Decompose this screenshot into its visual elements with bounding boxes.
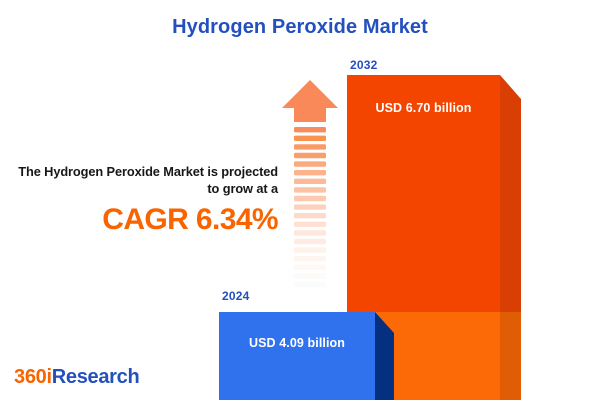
page-title: Hydrogen Peroxide Market [0,16,600,39]
cagr-value-text: CAGR 6.34% [14,205,278,235]
bar-2032-side-lower [500,312,521,400]
cagr-statement-text: The Hydrogen Peroxide Market is projecte… [14,164,278,198]
bar-2024-side [375,312,394,400]
brand-logo-mark: 360i [14,366,52,388]
cagr-callout: The Hydrogen Peroxide Market is projecte… [14,164,278,235]
bar-2032-year-label: 2032 [350,58,378,72]
brand-logo: 360iResearch [14,366,139,389]
bar-2032-value-label: USD 6.70 billion [347,101,500,115]
infographic-canvas: Hydrogen Peroxide Market The Hydrogen Pe… [0,0,600,400]
bar-2024-year-label: 2024 [222,289,250,303]
brand-logo-name: Research [52,366,140,388]
bar-2024-front [219,312,375,400]
bar-2024: USD 4.09 billion [219,312,394,400]
up-arrow-gradient-icon [281,78,339,293]
bar-2024-value-label: USD 4.09 billion [219,336,375,350]
bar-2032-side-upper [500,75,521,312]
